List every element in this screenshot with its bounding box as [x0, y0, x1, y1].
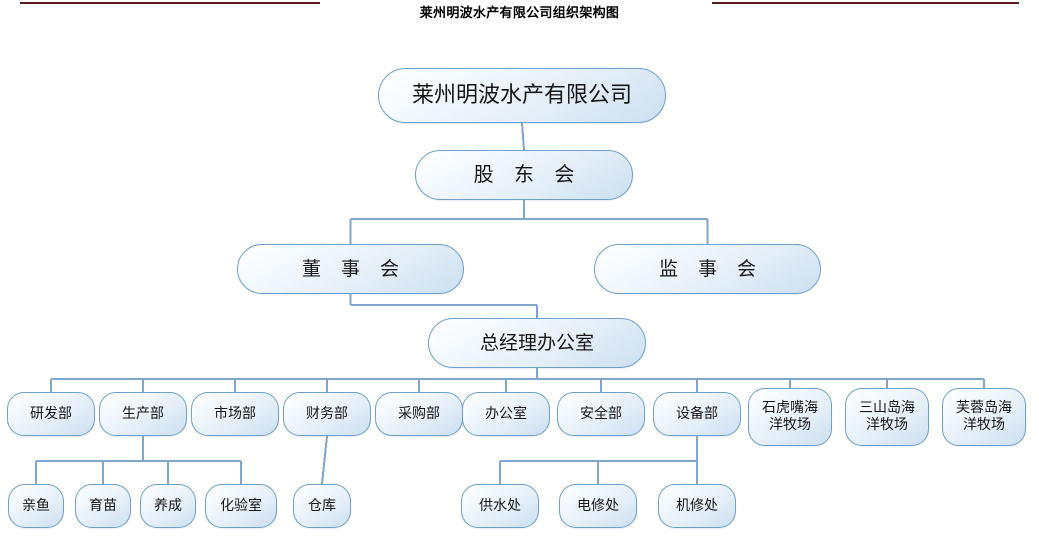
org-node-store[interactable]: 仓库: [293, 484, 351, 528]
org-node-mech[interactable]: 机修处: [658, 484, 736, 528]
org-node-gm[interactable]: 总经理办公室: [428, 318, 646, 368]
org-chart: 莱州明波水产有限公司股 东 会董 事 会监 事 会总经理办公室研发部生产部市场部…: [0, 0, 1039, 550]
org-node-equip[interactable]: 设备部: [653, 392, 741, 436]
org-node-ranch3[interactable]: 芙蓉岛海 洋牧场: [942, 388, 1026, 446]
org-node-nursery[interactable]: 育苗: [75, 484, 131, 528]
org-node-sh[interactable]: 股 东 会: [415, 150, 633, 200]
org-node-rd[interactable]: 研发部: [7, 392, 95, 436]
org-node-ranch1[interactable]: 石虎嘴海 洋牧场: [748, 388, 832, 446]
org-node-lab[interactable]: 化验室: [205, 484, 277, 528]
org-node-market[interactable]: 市场部: [191, 392, 279, 436]
org-node-prod[interactable]: 生产部: [99, 392, 187, 436]
org-node-board[interactable]: 董 事 会: [237, 244, 464, 294]
org-node-company[interactable]: 莱州明波水产有限公司: [378, 68, 666, 123]
org-node-super[interactable]: 监 事 会: [594, 244, 821, 294]
org-node-safety[interactable]: 安全部: [557, 392, 645, 436]
org-node-water[interactable]: 供水处: [461, 484, 539, 528]
org-node-office[interactable]: 办公室: [462, 392, 550, 436]
org-node-finance[interactable]: 财务部: [283, 392, 371, 436]
org-node-brood[interactable]: 亲鱼: [8, 484, 64, 528]
org-node-purch[interactable]: 采购部: [375, 392, 463, 436]
org-node-ranch2[interactable]: 三山岛海 洋牧场: [845, 388, 929, 446]
org-node-elec[interactable]: 电修处: [559, 484, 637, 528]
org-node-growout[interactable]: 养成: [140, 484, 196, 528]
